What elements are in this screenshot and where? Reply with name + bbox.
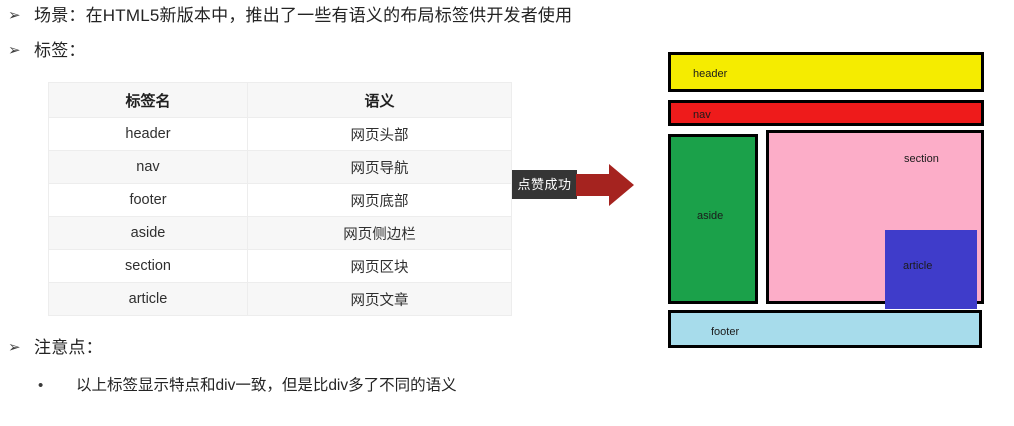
diagram-label-header: header <box>693 68 727 80</box>
diagram-box-nav: nav <box>668 100 984 126</box>
cell-semantic: 网页导航 <box>248 151 512 184</box>
diagram-label-nav: nav <box>693 109 711 121</box>
table-row: section 网页区块 <box>49 250 512 283</box>
bullet-scene: ➢ 场景：在HTML5新版本中，推出了一些有语义的布局标签供开发者使用 <box>8 5 572 27</box>
diagram-box-footer: footer <box>668 310 982 348</box>
bullet-arrow-icon: ➢ <box>8 5 34 27</box>
table-row: article 网页文章 <box>49 283 512 316</box>
semantic-tag-table: 标签名 语义 header 网页头部 nav 网页导航 footer 网页底部 … <box>48 82 512 316</box>
cell-semantic: 网页区块 <box>248 250 512 283</box>
table-row: footer 网页底部 <box>49 184 512 217</box>
diagram-label-aside: aside <box>697 210 723 222</box>
bullet-scene-text: 场景：在HTML5新版本中，推出了一些有语义的布局标签供开发者使用 <box>34 5 572 27</box>
bullet-tags: ➢ 标签： <box>8 40 86 62</box>
cell-tag-name: nav <box>49 151 248 184</box>
cell-semantic: 网页头部 <box>248 118 512 151</box>
bullet-arrow-icon: ➢ <box>8 40 34 62</box>
diagram-label-section: section <box>904 153 939 165</box>
cell-tag-name: footer <box>49 184 248 217</box>
cell-semantic: 网页文章 <box>248 283 512 316</box>
cell-semantic: 网页底部 <box>248 184 512 217</box>
diagram-box-article: article <box>885 230 977 309</box>
bullet-arrow-icon: ➢ <box>8 337 34 359</box>
bullet-notes: ➢ 注意点： <box>8 337 103 359</box>
diagram-box-header: header <box>668 52 984 92</box>
column-header-semantic: 语义 <box>248 83 512 118</box>
cell-semantic: 网页侧边栏 <box>248 217 512 250</box>
diagram-label-article: article <box>903 260 932 272</box>
bullet-notes-text: 注意点： <box>34 337 103 359</box>
right-arrow-icon <box>576 161 634 209</box>
html5-layout-diagram: header nav aside section article footer <box>666 52 984 350</box>
bullet-dot-icon: • <box>38 375 76 397</box>
diagram-box-aside: aside <box>668 134 758 304</box>
like-success-toast: 点赞成功 <box>512 170 577 199</box>
bullet-tags-text: 标签： <box>34 40 86 62</box>
cell-tag-name: header <box>49 118 248 151</box>
cell-tag-name: section <box>49 250 248 283</box>
table-row: nav 网页导航 <box>49 151 512 184</box>
cell-tag-name: aside <box>49 217 248 250</box>
column-header-tag-name: 标签名 <box>49 83 248 118</box>
diagram-box-section: section article <box>766 130 984 304</box>
cell-tag-name: article <box>49 283 248 316</box>
sub-bullet-note-text: 以上标签显示特点和div一致，但是比div多了不同的语义 <box>76 375 457 397</box>
diagram-label-footer: footer <box>711 326 739 338</box>
table-row: header 网页头部 <box>49 118 512 151</box>
table-row: aside 网页侧边栏 <box>49 217 512 250</box>
table-header-row: 标签名 语义 <box>49 83 512 118</box>
sub-bullet-note: • 以上标签显示特点和div一致，但是比div多了不同的语义 <box>38 375 457 397</box>
